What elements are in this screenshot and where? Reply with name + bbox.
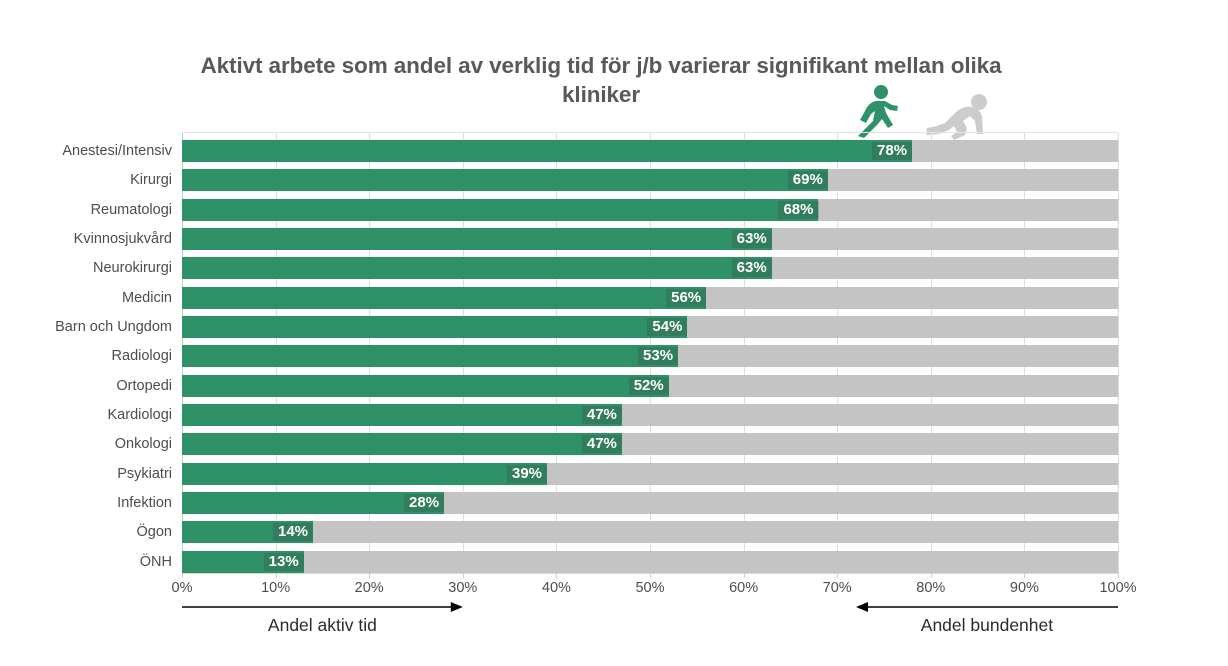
bar-segment-bundenhet[interactable] xyxy=(444,492,1118,514)
category-label-ortopedi: Ortopedi xyxy=(0,375,172,397)
category-label-kardiologi: Kardiologi xyxy=(0,404,172,426)
bar-segment-bundenhet[interactable] xyxy=(669,375,1118,397)
x-tick-label-70: 70% xyxy=(797,580,877,596)
bar-value-label: 39% xyxy=(507,465,547,483)
category-label-neurokirurgi: Neurokirurgi xyxy=(0,257,172,279)
category-label-medicin: Medicin xyxy=(0,287,172,309)
x-tick-mark-90 xyxy=(1024,573,1025,578)
category-label-infektion: Infektion xyxy=(0,492,172,514)
right-arrow-label-arrow xyxy=(856,601,1118,615)
x-tick-mark-10 xyxy=(276,573,277,578)
bar-segment-bundenhet[interactable] xyxy=(304,551,1118,573)
bar-segment-aktiv-tid[interactable] xyxy=(182,463,547,485)
x-tick-mark-60 xyxy=(744,573,745,578)
bar-segment-aktiv-tid[interactable] xyxy=(182,199,818,221)
x-tick-label-30: 30% xyxy=(423,580,503,596)
x-tick-label-40: 40% xyxy=(516,580,596,596)
x-tick-label-80: 80% xyxy=(891,580,971,596)
bar-segment-aktiv-tid[interactable] xyxy=(182,433,622,455)
x-tick-mark-80 xyxy=(931,573,932,578)
x-tick-label-60: 60% xyxy=(704,580,784,596)
bar-segment-bundenhet[interactable] xyxy=(912,140,1118,162)
bar-value-label: 52% xyxy=(629,377,669,395)
bar-segment-aktiv-tid[interactable] xyxy=(182,287,706,309)
category-label-anestesi-intensiv: Anestesi/Intensiv xyxy=(0,140,172,162)
bar-row[interactable]: 69% xyxy=(182,169,1118,191)
bar-value-label: 63% xyxy=(732,259,772,277)
x-tick-label-10: 10% xyxy=(236,580,316,596)
category-label-kvinnosjukv-rd: Kvinnosjukvård xyxy=(0,228,172,250)
category-label-onkologi: Onkologi xyxy=(0,433,172,455)
bar-row[interactable]: 28% xyxy=(182,492,1118,514)
bar-segment-aktiv-tid[interactable] xyxy=(182,375,669,397)
bar-row[interactable]: 13% xyxy=(182,551,1118,573)
bar-value-label: 63% xyxy=(732,230,772,248)
bar-segment-aktiv-tid[interactable] xyxy=(182,404,622,426)
bar-segment-aktiv-tid[interactable] xyxy=(182,228,772,250)
plot-area: 78%69%68%63%63%56%54%53%52%47%47%39%28%1… xyxy=(182,133,1118,573)
x-tick-mark-100 xyxy=(1118,573,1119,578)
x-tick-mark-30 xyxy=(463,573,464,578)
bar-value-label: 13% xyxy=(264,553,304,571)
bar-row[interactable]: 54% xyxy=(182,316,1118,338)
bar-row[interactable]: 47% xyxy=(182,404,1118,426)
bar-segment-aktiv-tid[interactable] xyxy=(182,345,678,367)
bar-row[interactable]: 56% xyxy=(182,287,1118,309)
x-tick-mark-50 xyxy=(650,573,651,578)
x-tick-mark-20 xyxy=(369,573,370,578)
bar-value-label: 54% xyxy=(647,318,687,336)
bar-value-label: 14% xyxy=(273,523,313,541)
bar-segment-aktiv-tid[interactable] xyxy=(182,257,772,279)
bar-segment-bundenhet[interactable] xyxy=(687,316,1118,338)
category-label-kirurgi: Kirurgi xyxy=(0,169,172,191)
bar-row[interactable]: 63% xyxy=(182,228,1118,250)
category-label--gon: Ögon xyxy=(0,521,172,543)
bar-segment-bundenhet[interactable] xyxy=(622,433,1118,455)
bar-row[interactable]: 63% xyxy=(182,257,1118,279)
left-arrow-label-arrow xyxy=(182,601,463,615)
x-tick-mark-40 xyxy=(556,573,557,578)
bar-value-label: 68% xyxy=(778,201,818,219)
bar-segment-aktiv-tid[interactable] xyxy=(182,140,912,162)
x-tick-label-100: 100% xyxy=(1078,580,1158,596)
left-arrow-label: Andel aktiv tid xyxy=(182,615,463,636)
x-tick-label-90: 90% xyxy=(984,580,1064,596)
bar-segment-bundenhet[interactable] xyxy=(772,257,1118,279)
category-label-barn-och-ungdom: Barn och Ungdom xyxy=(0,316,172,338)
bar-row[interactable]: 68% xyxy=(182,199,1118,221)
bar-segment-aktiv-tid[interactable] xyxy=(182,169,828,191)
bar-segment-bundenhet[interactable] xyxy=(313,521,1118,543)
bar-row[interactable]: 52% xyxy=(182,375,1118,397)
bar-segment-bundenhet[interactable] xyxy=(622,404,1118,426)
bar-segment-bundenhet[interactable] xyxy=(547,463,1118,485)
x-tick-label-20: 20% xyxy=(329,580,409,596)
category-label-reumatologi: Reumatologi xyxy=(0,199,172,221)
bar-value-label: 47% xyxy=(582,406,622,424)
gridline-100 xyxy=(1118,133,1119,573)
x-tick-label-50: 50% xyxy=(610,580,690,596)
bar-row[interactable]: 47% xyxy=(182,433,1118,455)
category-label-radiologi: Radiologi xyxy=(0,345,172,367)
bar-value-label: 53% xyxy=(638,347,678,365)
bar-value-label: 28% xyxy=(404,494,444,512)
bar-row[interactable]: 78% xyxy=(182,140,1118,162)
bar-value-label: 69% xyxy=(788,171,828,189)
bar-value-label: 56% xyxy=(666,289,706,307)
bar-row[interactable]: 53% xyxy=(182,345,1118,367)
bar-segment-bundenhet[interactable] xyxy=(828,169,1118,191)
right-arrow-label: Andel bundenhet xyxy=(856,615,1118,636)
category-label-psykiatri: Psykiatri xyxy=(0,463,172,485)
bar-segment-bundenhet[interactable] xyxy=(706,287,1118,309)
bar-segment-aktiv-tid[interactable] xyxy=(182,316,687,338)
category-label--nh: ÖNH xyxy=(0,551,172,573)
bar-segment-bundenhet[interactable] xyxy=(772,228,1118,250)
bar-segment-bundenhet[interactable] xyxy=(678,345,1118,367)
bar-row[interactable]: 14% xyxy=(182,521,1118,543)
bar-row[interactable]: 39% xyxy=(182,463,1118,485)
chart-container: Aktivt arbete som andel av verklig tid f… xyxy=(0,0,1228,666)
bar-value-label: 78% xyxy=(872,142,912,160)
x-tick-label-0: 0% xyxy=(142,580,222,596)
x-tick-mark-0 xyxy=(182,573,183,578)
bar-value-label: 47% xyxy=(582,435,622,453)
bar-segment-bundenhet[interactable] xyxy=(818,199,1118,221)
x-tick-mark-70 xyxy=(837,573,838,578)
